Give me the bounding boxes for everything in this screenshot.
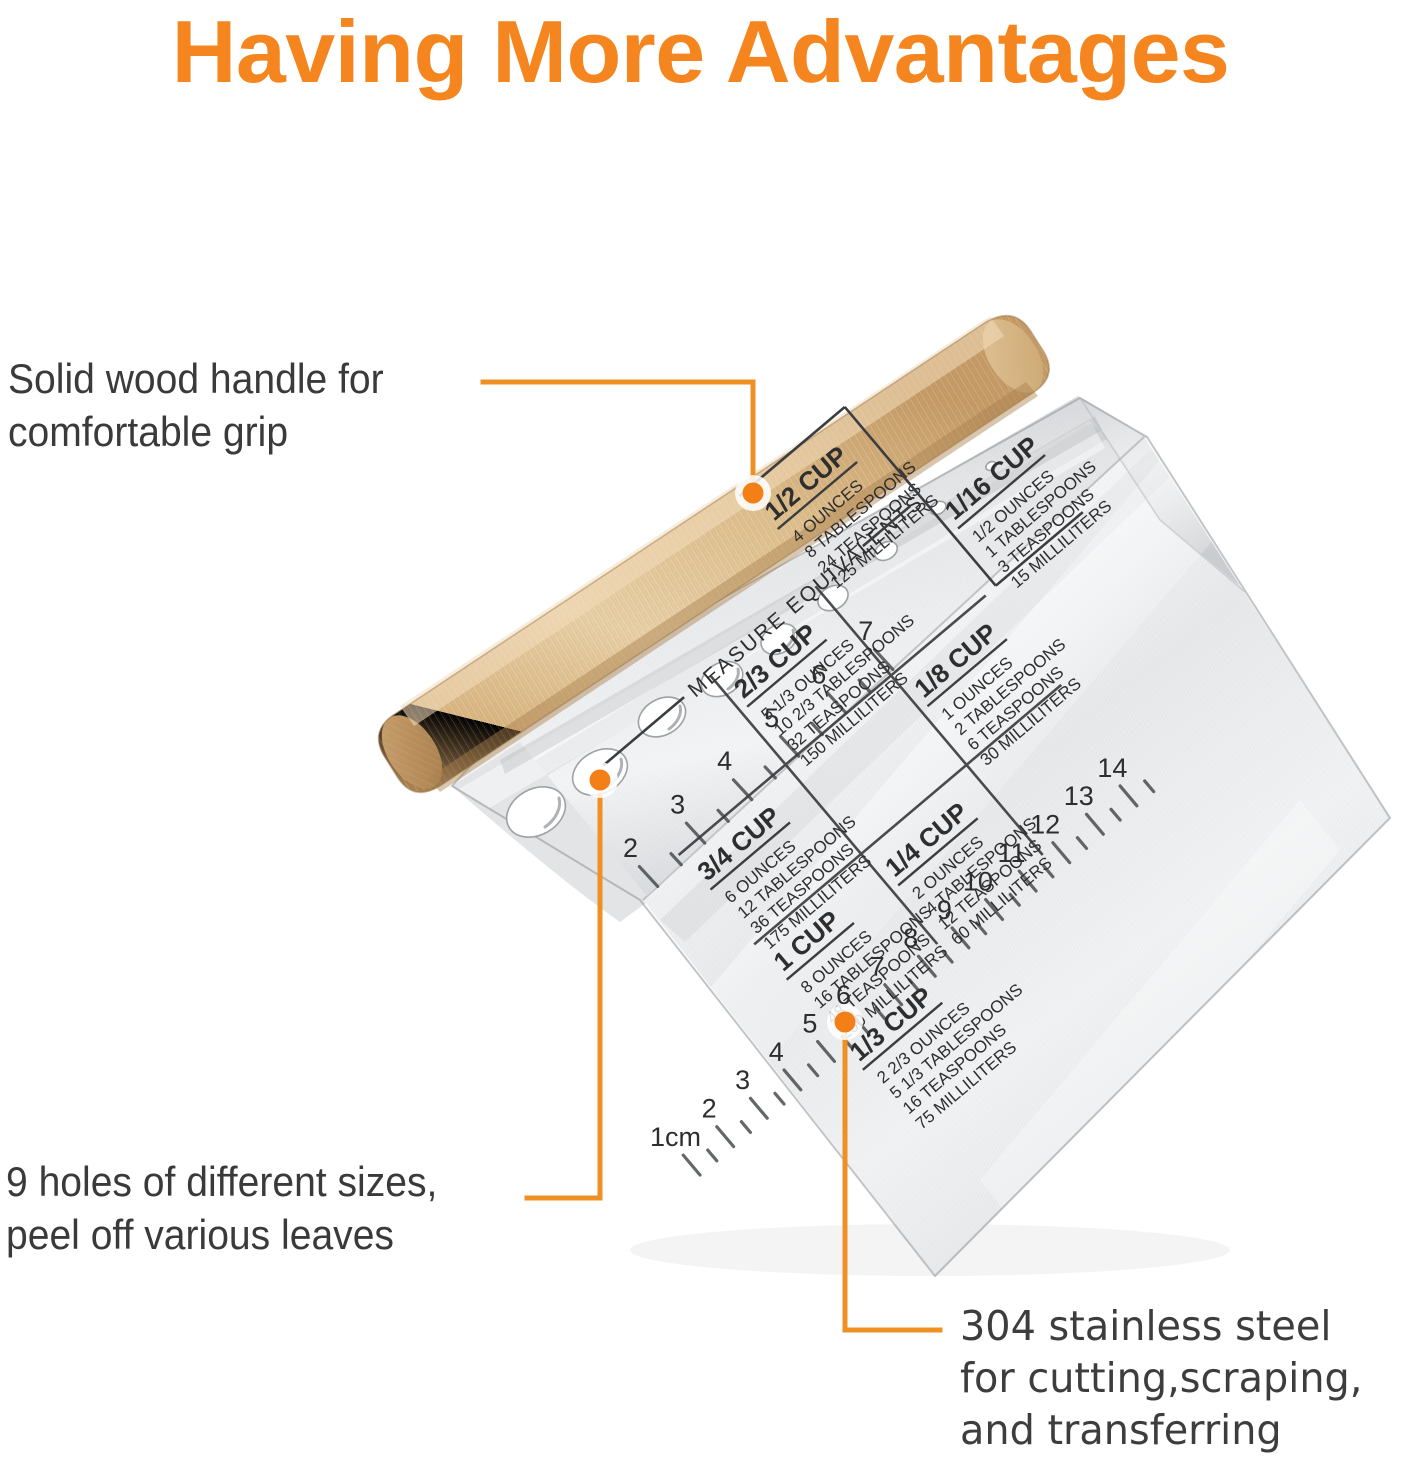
svg-text:2: 2 <box>623 833 638 863</box>
svg-text:4: 4 <box>769 1037 784 1067</box>
svg-text:2: 2 <box>702 1094 717 1124</box>
svg-text:5: 5 <box>802 1008 817 1038</box>
infographic-canvas: Having More Advantages <box>0 0 1401 1465</box>
svg-text:1cm: 1cm <box>650 1122 701 1152</box>
svg-text:14: 14 <box>1097 753 1127 783</box>
callout-label-handle: Solid wood handle for comfortable grip <box>8 352 384 458</box>
svg-text:3: 3 <box>735 1065 750 1095</box>
svg-text:4: 4 <box>717 746 732 776</box>
callout-label-steel: 304 stainless steel for cutting,scraping… <box>960 1300 1362 1456</box>
svg-text:3: 3 <box>670 790 685 820</box>
callout-label-holes: 9 holes of different sizes, peel off var… <box>6 1155 437 1261</box>
svg-text:13: 13 <box>1064 781 1094 811</box>
